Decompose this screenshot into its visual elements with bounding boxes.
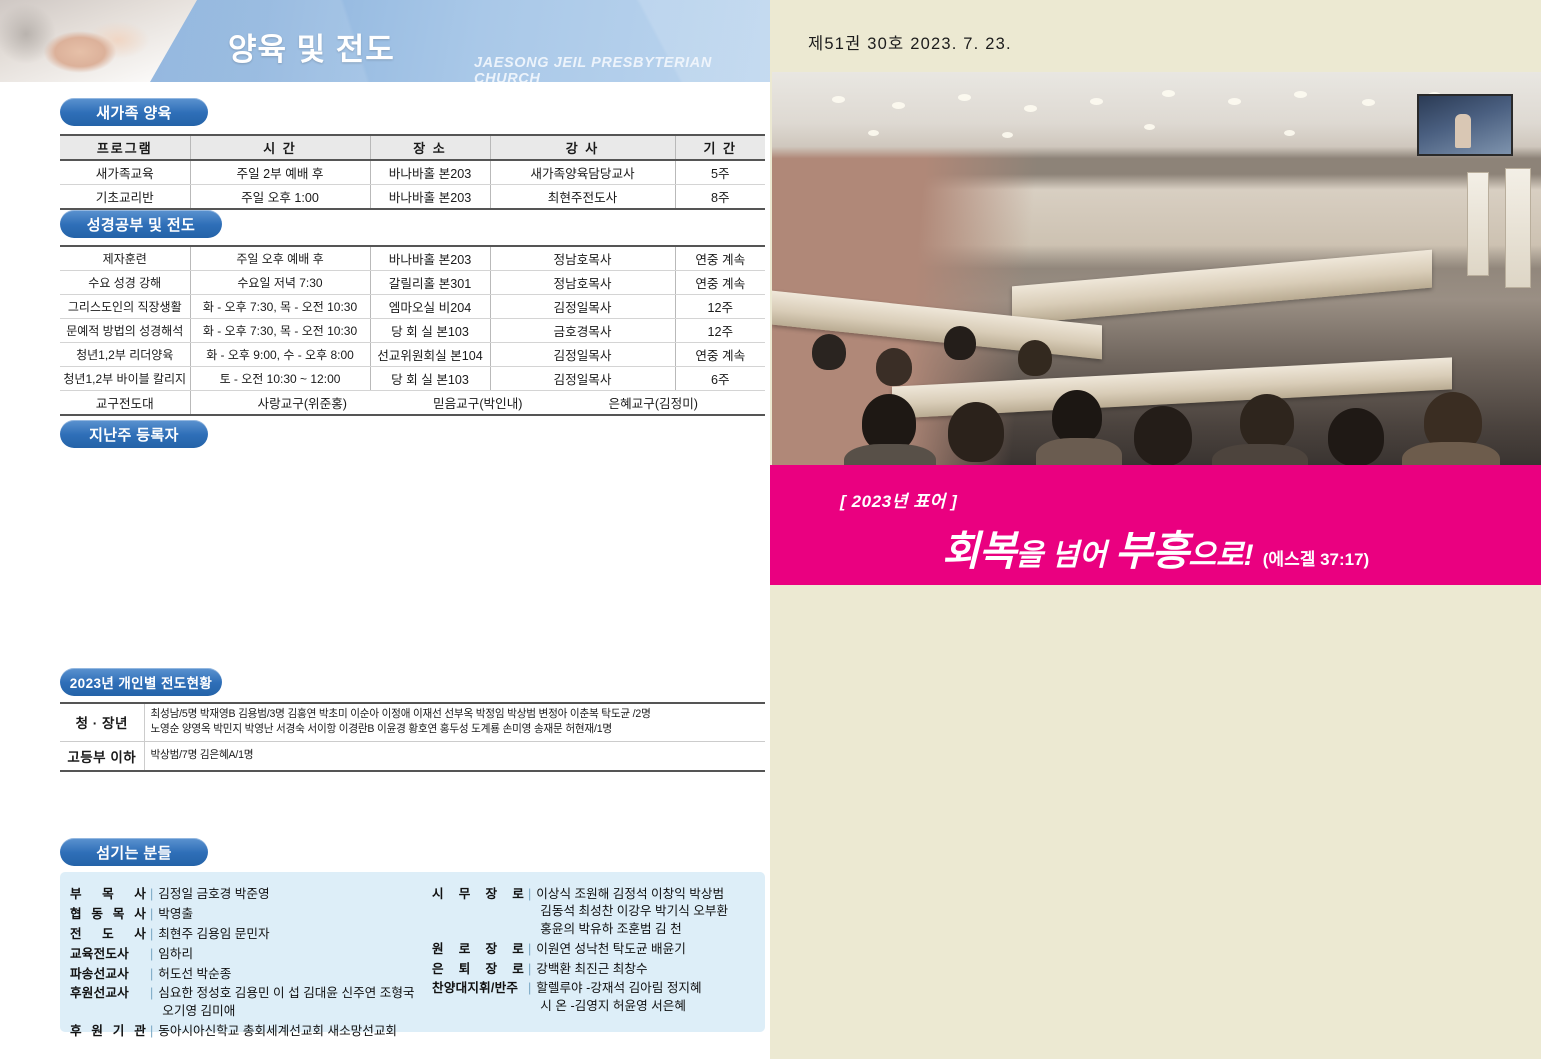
servants-names: 강백환 최진근 최창수	[536, 961, 762, 978]
servants-name-line: 김정일 금호경 박준영	[158, 886, 430, 903]
servants-role-label: 부 목 사	[70, 886, 146, 903]
district-evangelism-cell: 사랑교구(위준홍)믿음교구(박인내)은혜교구(김정미)	[190, 391, 765, 416]
table-cell: 화 - 오후 9:00, 수 - 오후 8:00	[190, 343, 370, 367]
slogan-banner: [ 2023년 표어 ] 회복을 넘어 부흥으로! (에스겔 37:17)	[770, 465, 1541, 585]
divider: |	[146, 886, 158, 903]
servants-row: 협 동 목 사|박영출	[70, 906, 430, 923]
table-cell: 최현주전도사	[490, 185, 675, 210]
wall-banner	[1505, 168, 1531, 288]
servants-names: 김정일 금호경 박준영	[158, 886, 430, 903]
evangelism-name-line: 최성남/5명 박재영B 김용범/3명 김홍연 박초미 이순아 이정애 이재선 선…	[151, 707, 760, 722]
evangelism-name-line: 박상범/7명 김은혜A/1명	[151, 748, 760, 763]
servants-name-line: 오기영 김미애	[158, 1003, 430, 1020]
servants-row: 부 목 사|김정일 금호경 박준영	[70, 886, 430, 903]
slogan-text: 회복을 넘어 부흥으로! (에스겔 37:17)	[942, 517, 1369, 577]
slogan-part4: 으로!	[1188, 539, 1253, 572]
column-header: 장 소	[370, 135, 490, 160]
column-header: 강 사	[490, 135, 675, 160]
table-row: 새가족교육주일 2부 예배 후바나바홀 본203새가족양육담당교사5주	[60, 160, 765, 185]
table-cell: 기초교리반	[60, 185, 190, 210]
servants-names: 심요한 정성호 김용민 이 섭 김대윤 신주연 조형국오기영 김미애	[158, 985, 430, 1020]
table-row: 교구전도대사랑교구(위준홍)믿음교구(박인내)은혜교구(김정미)	[60, 391, 765, 416]
table-cell: 연중 계속	[675, 271, 765, 295]
slogan-part2: 을 넘어	[1015, 539, 1114, 572]
servants-name-line: 심요한 정성호 김용민 이 섭 김대윤 신주연 조형국	[158, 985, 430, 1002]
issue-line: 제51권 30호 2023. 7. 23.	[808, 30, 1012, 54]
table-cell: 연중 계속	[675, 343, 765, 367]
servants-name-line: 임하리	[158, 946, 430, 963]
servants-row: 전 도 사|최현주 김용임 문민자	[70, 926, 430, 943]
table-cell: 화 - 오후 7:30, 목 - 오전 10:30	[190, 319, 370, 343]
newfamily-table: 프로그램시 간장 소강 사기 간 새가족교육주일 2부 예배 후바나바홀 본20…	[60, 134, 765, 210]
servants-role-label: 교육전도사	[70, 946, 146, 963]
servants-row: 은 퇴 장 로|강백환 최진근 최창수	[432, 961, 762, 978]
servants-name-line: 김동석 최성찬 이강우 박기식 오부환	[536, 903, 762, 920]
servants-name-line: 이원연 성낙천 탁도균 배윤기	[536, 941, 762, 958]
servants-name-line: 동아시아신학교 총회세계선교회 새소망선교회	[158, 1023, 430, 1040]
table-cell: 바나바홀 본203	[370, 185, 490, 210]
table-cell: 정남호목사	[490, 271, 675, 295]
divider: |	[146, 906, 158, 923]
slogan-tag: [ 2023년 표어 ]	[840, 487, 957, 512]
servants-right-column: 시 무 장 로|이상식 조원해 김정석 이창익 박상범김동석 최성찬 이강우 박…	[432, 886, 762, 1018]
table-cell: 바나바홀 본203	[370, 246, 490, 271]
divider: |	[524, 941, 536, 958]
slogan-part3: 부흥	[1115, 528, 1188, 574]
servants-name-line: 시 온 -김영지 허윤영 서은혜	[536, 998, 762, 1015]
page-banner: 양육 및 전도 JAESONG JEIL PRESBYTERIAN CHURCH	[0, 0, 770, 82]
table-cell: 선교위원회실 본104	[370, 343, 490, 367]
table-row: 제자훈련주일 오후 예배 후바나바홀 본203정남호목사연중 계속	[60, 246, 765, 271]
table-cell: 8주	[675, 185, 765, 210]
table-cell: 당 회 실 본103	[370, 367, 490, 391]
district-item: 사랑교구(위준홍)	[258, 393, 348, 412]
divider: |	[524, 980, 536, 997]
section-heading-servants: 섬기는 분들	[60, 838, 208, 866]
servants-names: 임하리	[158, 946, 430, 963]
table-row: 고등부 이하박상범/7명 김은혜A/1명	[60, 741, 765, 771]
table-cell: 6주	[675, 367, 765, 391]
bulletin-page: 양육 및 전도 JAESONG JEIL PRESBYTERIAN CHURCH…	[0, 0, 1541, 1059]
servants-role-label: 파송선교사	[70, 966, 146, 983]
column-header: 프로그램	[60, 135, 190, 160]
servants-row: 후 원 기 관|동아시아신학교 총회세계선교회 새소망선교회	[70, 1023, 430, 1040]
banner-title: 양육 및 전도	[228, 24, 395, 69]
table-cell: 바나바홀 본203	[370, 160, 490, 185]
table-cell: 갈릴리홀 본301	[370, 271, 490, 295]
wall-banner	[1467, 172, 1489, 276]
district-item: 믿음교구(박인내)	[433, 393, 523, 412]
servants-role-label: 찬양대지휘/반주	[432, 980, 524, 997]
table-cell: 문예적 방법의 성경해석	[60, 319, 190, 343]
table-row: 그리스도인의 직장생활화 - 오후 7:30, 목 - 오전 10:30엠마오실…	[60, 295, 765, 319]
table-cell: 새가족교육	[60, 160, 190, 185]
right-page: 제51권 30호 2023. 7. 23.	[770, 0, 1541, 1059]
table-cell: 연중 계속	[675, 246, 765, 271]
table-header-row: 프로그램시 간장 소강 사기 간	[60, 135, 765, 160]
section-heading-newfamily: 새가족 양육	[60, 98, 208, 126]
servants-names: 할렐루야 -강재석 김아림 정지혜시 온 -김영지 허윤영 서은혜	[536, 980, 762, 1015]
table-cell: 토 - 오전 10:30 ~ 12:00	[190, 367, 370, 391]
servants-names: 최현주 김용임 문민자	[158, 926, 430, 943]
servants-row: 교육전도사|임하리	[70, 946, 430, 963]
servants-name-line: 홍윤의 박유하 조훈범 김 천	[536, 921, 762, 938]
table-cell: 5주	[675, 160, 765, 185]
servants-name-line: 할렐루야 -강재석 김아림 정지혜	[536, 980, 762, 997]
table-cell: 주일 오후 예배 후	[190, 246, 370, 271]
table-cell: 교구전도대	[60, 391, 190, 416]
table-cell: 12주	[675, 319, 765, 343]
servants-names: 이상식 조원해 김정석 이창익 박상범김동석 최성찬 이강우 박기식 오부환홍윤…	[536, 886, 762, 938]
table-cell: 청년1,2부 리더양육	[60, 343, 190, 367]
evangelism-names: 박상범/7명 김은혜A/1명	[144, 741, 765, 771]
table-cell: 주일 2부 예배 후	[190, 160, 370, 185]
servants-role-label: 협 동 목 사	[70, 906, 146, 923]
servants-names: 동아시아신학교 총회세계선교회 새소망선교회	[158, 1023, 430, 1040]
servants-name-line: 강백환 최진근 최창수	[536, 961, 762, 978]
servants-row: 파송선교사|허도선 박순종	[70, 966, 430, 983]
evangelism-name-line: 노영순 양영옥 박민지 박영난 서경숙 서이항 이경란B 이윤경 황호연 홍두성…	[151, 722, 760, 737]
table-row: 청 · 장년최성남/5명 박재영B 김용범/3명 김홍연 박초미 이순아 이정애…	[60, 703, 765, 741]
table-cell: 김정일목사	[490, 367, 675, 391]
table-cell: 제자훈련	[60, 246, 190, 271]
servants-role-label: 은 퇴 장 로	[432, 961, 524, 978]
evangelism-group-label: 청 · 장년	[60, 703, 144, 741]
table-cell: 그리스도인의 직장생활	[60, 295, 190, 319]
servants-names: 이원연 성낙천 탁도균 배윤기	[536, 941, 762, 958]
table-cell: 수요일 저녁 7:30	[190, 271, 370, 295]
servants-role-label: 시 무 장 로	[432, 886, 524, 903]
slogan-part1: 회복	[942, 528, 1015, 574]
servants-role-label: 후원선교사	[70, 985, 146, 1002]
table-cell: 금호경목사	[490, 319, 675, 343]
section-heading-evangelism: 2023년 개인별 전도현황	[60, 668, 222, 696]
column-header: 시 간	[190, 135, 370, 160]
table-cell: 수요 성경 강해	[60, 271, 190, 295]
evangelism-status-table: 청 · 장년최성남/5명 박재영B 김용범/3명 김홍연 박초미 이순아 이정애…	[60, 702, 765, 772]
divider: |	[524, 961, 536, 978]
table-cell: 12주	[675, 295, 765, 319]
column-header: 기 간	[675, 135, 765, 160]
table-row: 수요 성경 강해수요일 저녁 7:30갈릴리홀 본301정남호목사연중 계속	[60, 271, 765, 295]
servants-name-line: 박영출	[158, 906, 430, 923]
district-item: 은혜교구(김정미)	[609, 393, 699, 412]
evangelism-group-label: 고등부 이하	[60, 741, 144, 771]
table-cell: 청년1,2부 바이블 칼리지	[60, 367, 190, 391]
divider: |	[146, 946, 158, 963]
left-page: 양육 및 전도 JAESONG JEIL PRESBYTERIAN CHURCH…	[0, 0, 770, 1059]
servants-role-label: 후 원 기 관	[70, 1023, 146, 1040]
servants-role-label: 원 로 장 로	[432, 941, 524, 958]
servants-names: 박영출	[158, 906, 430, 923]
table-cell: 엠마오실 비204	[370, 295, 490, 319]
sanctuary-photo	[772, 72, 1541, 465]
table-cell: 당 회 실 본103	[370, 319, 490, 343]
servants-row: 찬양대지휘/반주|할렐루야 -강재석 김아림 정지혜시 온 -김영지 허윤영 서…	[432, 980, 762, 1015]
table-cell: 새가족양육담당교사	[490, 160, 675, 185]
servants-name-line: 이상식 조원해 김정석 이창익 박상범	[536, 886, 762, 903]
servants-row: 후원선교사|심요한 정성호 김용민 이 섭 김대윤 신주연 조형국오기영 김미애	[70, 985, 430, 1020]
divider: |	[146, 985, 158, 1002]
servants-name-line: 허도선 박순종	[158, 966, 430, 983]
bible-study-table: 제자훈련주일 오후 예배 후바나바홀 본203정남호목사연중 계속수요 성경 강…	[60, 245, 765, 416]
table-cell: 정남호목사	[490, 246, 675, 271]
slogan-reference: (에스겔 37:17)	[1263, 550, 1369, 569]
table-cell: 주일 오후 1:00	[190, 185, 370, 210]
servants-left-column: 부 목 사|김정일 금호경 박준영협 동 목 사|박영출전 도 사|최현주 김용…	[70, 886, 430, 1043]
banner-subtitle: JAESONG JEIL PRESBYTERIAN CHURCH	[474, 55, 770, 82]
section-heading-lastweek: 지난주 등록자	[60, 420, 208, 448]
table-cell: 김정일목사	[490, 343, 675, 367]
divider: |	[146, 926, 158, 943]
servants-role-label: 전 도 사	[70, 926, 146, 943]
table-row: 문예적 방법의 성경해석화 - 오후 7:30, 목 - 오전 10:30당 회…	[60, 319, 765, 343]
divider: |	[524, 886, 536, 903]
servants-row: 원 로 장 로|이원연 성낙천 탁도균 배윤기	[432, 941, 762, 958]
servants-name-line: 최현주 김용임 문민자	[158, 926, 430, 943]
evangelism-names: 최성남/5명 박재영B 김용범/3명 김홍연 박초미 이순아 이정애 이재선 선…	[144, 703, 765, 741]
projection-screen-icon	[1417, 94, 1513, 156]
section-heading-bible: 성경공부 및 전도	[60, 210, 222, 238]
table-row: 청년1,2부 바이블 칼리지토 - 오전 10:30 ~ 12:00당 회 실 …	[60, 367, 765, 391]
table-row: 기초교리반주일 오후 1:00바나바홀 본203최현주전도사8주	[60, 185, 765, 210]
divider: |	[146, 1023, 158, 1040]
table-cell: 화 - 오후 7:30, 목 - 오전 10:30	[190, 295, 370, 319]
servants-names: 허도선 박순종	[158, 966, 430, 983]
servants-row: 시 무 장 로|이상식 조원해 김정석 이창익 박상범김동석 최성찬 이강우 박…	[432, 886, 762, 938]
servants-box: 부 목 사|김정일 금호경 박준영협 동 목 사|박영출전 도 사|최현주 김용…	[60, 872, 765, 1032]
table-row: 청년1,2부 리더양육화 - 오후 9:00, 수 - 오후 8:00선교위원회…	[60, 343, 765, 367]
divider: |	[146, 966, 158, 983]
table-cell: 김정일목사	[490, 295, 675, 319]
